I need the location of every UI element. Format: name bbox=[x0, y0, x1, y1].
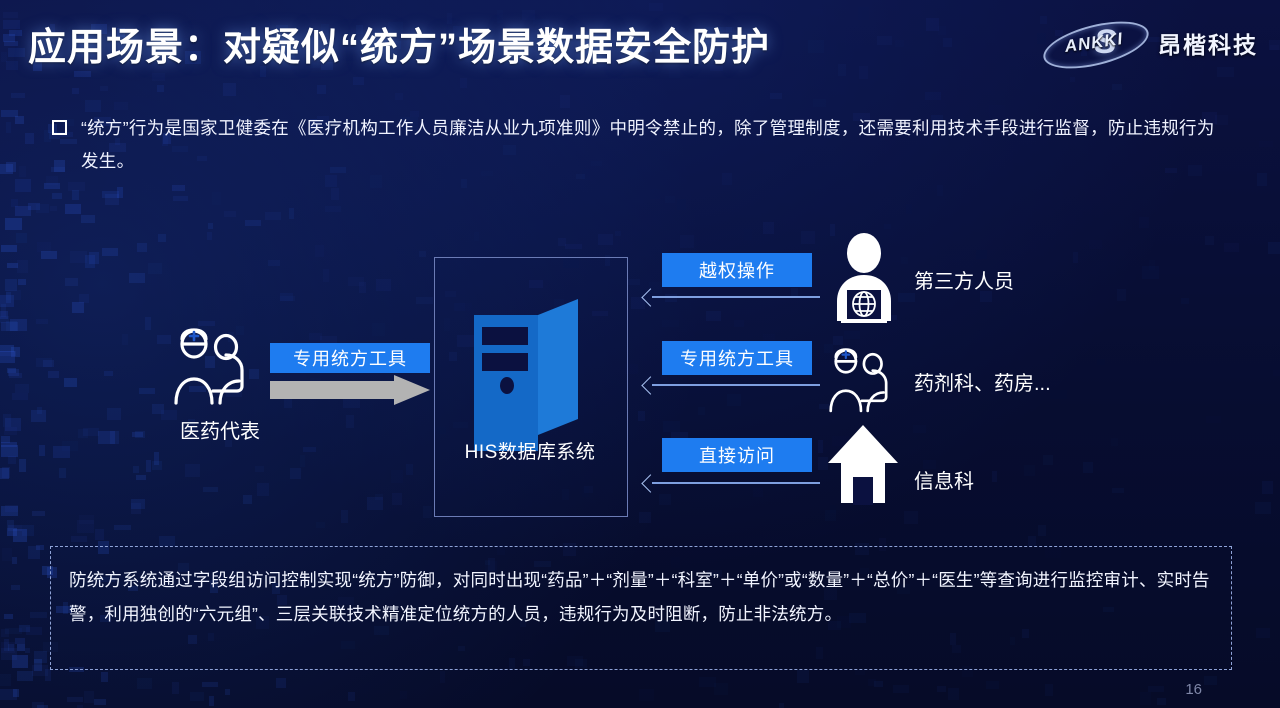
tag-flow-2: 直接访问 bbox=[662, 438, 812, 472]
architecture-diagram: 医药代表 专用统方工具 HIS数据库系统 越权操作 bbox=[0, 225, 1280, 535]
house-icon bbox=[826, 423, 900, 505]
flow-arrow-0 bbox=[644, 291, 820, 303]
company-logo: S ANKKI 昂楷科技 bbox=[1042, 20, 1258, 66]
logo-chinese-name: 昂楷科技 bbox=[1158, 26, 1258, 60]
logo-mark-icon: S ANKKI bbox=[1042, 21, 1146, 65]
flow-actor-label-0: 第三方人员 bbox=[914, 265, 1014, 294]
flow-actor-label-1: 药剂科、药房... bbox=[914, 367, 1051, 396]
gray-flow-arrow-icon bbox=[270, 375, 430, 405]
bullet-text: “统方”行为是国家卫健委在《医疗机构工作人员廉洁从业九项准则》中明令禁止的，除了… bbox=[81, 112, 1232, 178]
person-laptop-globe-icon bbox=[826, 233, 902, 325]
summary-note-box: 防统方系统通过字段组访问控制实现“统方”防御，对同时出现“药品”＋“剂量”＋“科… bbox=[50, 546, 1232, 670]
flow-arrow-2 bbox=[644, 477, 820, 489]
server-label: HIS数据库系统 bbox=[434, 437, 626, 464]
left-actor-label: 医药代表 bbox=[150, 415, 290, 444]
slide-header: 应用场景：对疑似“统方”场景数据安全防护 S ANKKI 昂楷科技 bbox=[0, 0, 1280, 92]
bullet-paragraph: “统方”行为是国家卫健委在《医疗机构工作人员廉洁从业九项准则》中明令禁止的，除了… bbox=[52, 112, 1232, 178]
page-title: 应用场景：对疑似“统方”场景数据安全防护 bbox=[28, 16, 770, 71]
medical-staff-icon bbox=[824, 343, 908, 415]
tag-flow-0: 越权操作 bbox=[662, 253, 812, 287]
summary-note-text: 防统方系统通过字段组访问控制实现“统方”防御，对同时出现“药品”＋“剂量”＋“科… bbox=[51, 547, 1231, 631]
flow-arrow-1 bbox=[644, 379, 820, 391]
page-number: 16 bbox=[1185, 681, 1202, 698]
bullet-square-icon bbox=[52, 120, 67, 135]
flow-actor-label-2: 信息科 bbox=[914, 465, 974, 494]
server-tower-icon bbox=[474, 299, 584, 451]
tag-left-tool: 专用统方工具 bbox=[270, 343, 430, 373]
slide-root: 应用场景：对疑似“统方”场景数据安全防护 S ANKKI 昂楷科技 “统方”行为… bbox=[0, 0, 1280, 708]
tag-flow-1: 专用统方工具 bbox=[662, 341, 812, 375]
medical-staff-icon bbox=[168, 325, 268, 405]
